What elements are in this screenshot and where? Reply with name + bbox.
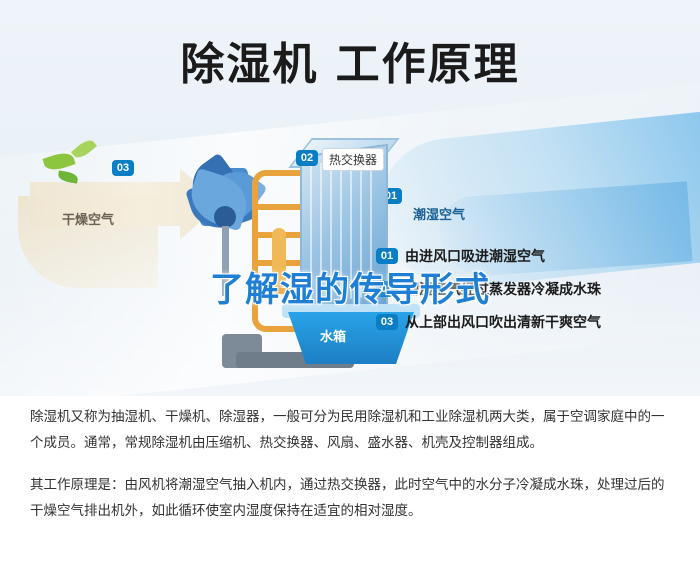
fan-hub bbox=[214, 206, 236, 228]
humid-air-label: 潮湿空气 bbox=[413, 204, 465, 223]
water-tank-label: 水箱 bbox=[320, 326, 346, 345]
badge-03-left: 03 bbox=[112, 160, 134, 176]
leaf-icon bbox=[57, 170, 78, 183]
leaf-icon bbox=[71, 137, 97, 162]
coil-tube bbox=[252, 204, 306, 210]
badge-02-center: 02 bbox=[296, 150, 318, 166]
article-paragraph-2: 其工作原理是：由风机将潮湿空气抽入机内，通过热交换器，此时空气中的水分子冷凝成水… bbox=[30, 472, 670, 524]
dry-air-label: 干燥空气 bbox=[62, 209, 114, 228]
hero-title: 除湿机 工作原理 bbox=[0, 28, 700, 92]
step-text: 从上部出风口吹出清新干爽空气 bbox=[405, 312, 601, 332]
page-root: 除湿机 工作原理 03 干燥空气 01 潮湿空气 bbox=[0, 0, 700, 566]
article-paragraph-1: 除湿机又称为抽湿机、干燥机、除湿器，一般可分为民用除湿机和工业除湿机两大类，属于… bbox=[30, 404, 670, 456]
step-number: 03 bbox=[376, 314, 398, 330]
watermark-headline: 了解湿的传导形式 bbox=[0, 262, 700, 311]
heat-exchanger-label: 热交换器 bbox=[322, 148, 384, 171]
article-body: 除湿机又称为抽湿机、干燥机、除湿器，一般可分为民用除湿机和工业除湿机两大类，属于… bbox=[0, 404, 700, 540]
hero-illustration: 除湿机 工作原理 03 干燥空气 01 潮湿空气 bbox=[0, 0, 700, 396]
step-item: 03 从上部出风口吹出清新干爽空气 bbox=[376, 312, 688, 332]
